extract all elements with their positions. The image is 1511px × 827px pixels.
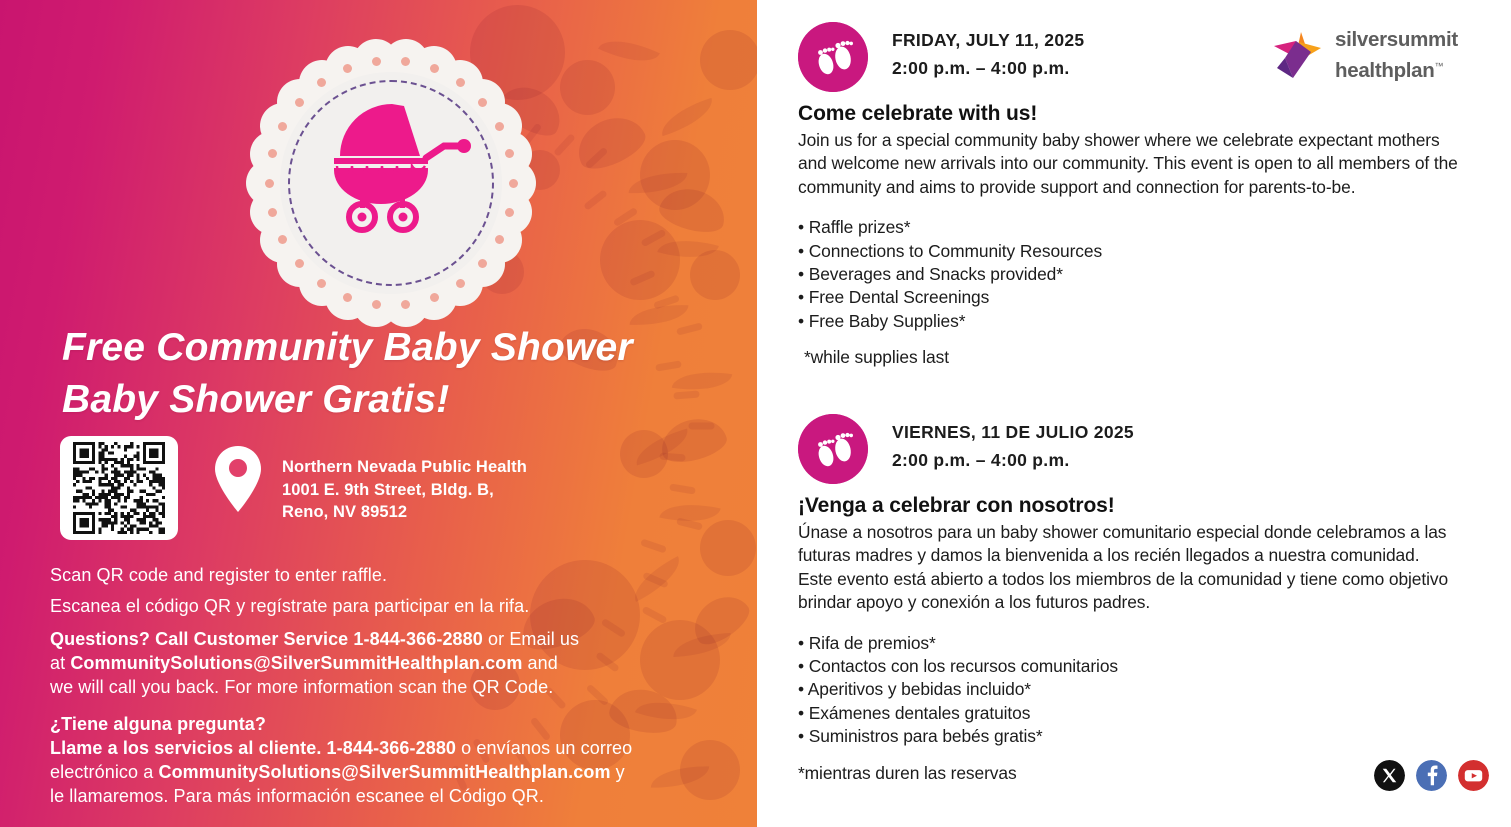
contact-en-email[interactable]: CommunitySolutions@SilverSummitHealthpla… — [70, 653, 522, 673]
event-es-datetime: VIERNES, 11 DE JULIO 2025 2:00 p.m. – 4:… — [892, 418, 1134, 474]
address-line-2: 1001 E. 9th Street, Bldg. B, — [282, 479, 702, 502]
title-line-spanish: Baby Shower Gratis! — [62, 374, 742, 426]
contact-es-line-2: Llame a los servicios al cliente. 1-844-… — [50, 736, 750, 760]
decorative-leaf — [656, 98, 718, 136]
baby-pram-medallion — [246, 38, 536, 328]
contact-info-spanish: ¿Tiene alguna pregunta? Llame a los serv… — [50, 712, 750, 808]
contact-en-line-2: at CommunitySolutions@SilverSummitHealth… — [50, 651, 750, 675]
address-line-1: Northern Nevada Public Health — [282, 456, 702, 479]
event-en-time: 2:00 p.m. – 4:00 p.m. — [892, 54, 1084, 82]
scan-note-spanish: Escanea el código QR y regístrate para p… — [50, 591, 740, 622]
contact-en-and: and — [522, 653, 557, 673]
event-details-spanish: VIERNES, 11 DE JULIO 2025 2:00 p.m. – 4:… — [798, 414, 1458, 784]
scan-instructions: Scan QR code and register to enter raffl… — [50, 560, 740, 622]
event-es-header: VIERNES, 11 DE JULIO 2025 2:00 p.m. – 4:… — [798, 414, 1458, 484]
decorative-dash — [585, 146, 609, 169]
baby-shower-flyer: Free Community Baby Shower Baby Shower G… — [0, 0, 1511, 827]
title-line-english: Free Community Baby Shower — [62, 322, 742, 374]
contact-en-line-3: we will call you back. For more informat… — [50, 675, 750, 699]
contact-info-english: Questions? Call Customer Service 1-844-3… — [50, 627, 750, 699]
event-es-bullets: • Rifa de premios* • Contactos con los r… — [798, 632, 1458, 749]
location-pin-icon — [213, 444, 263, 514]
decorative-dash — [640, 228, 666, 247]
contact-es-line-3: electrónico a CommunitySolutions@SilverS… — [50, 760, 750, 784]
decorative-shape — [569, 107, 651, 176]
contact-en-phone: Questions? Call Customer Service 1-844-3… — [50, 629, 483, 649]
event-es-heading: ¡Venga a celebrar con nosotros! — [798, 492, 1458, 520]
decorative-leaf — [629, 171, 688, 195]
event-en-body: Join us for a special community baby sho… — [798, 129, 1458, 199]
decorative-dash — [640, 539, 667, 554]
contact-es-phone: Llame a los servicios al cliente. 1-844-… — [50, 738, 456, 758]
event-en-bullets: • Raffle prizes* • Connections to Commun… — [798, 216, 1458, 333]
event-es-date: VIERNES, 11 DE JULIO 2025 — [892, 418, 1134, 446]
left-panel: Free Community Baby Shower Baby Shower G… — [0, 0, 757, 827]
decorative-dash — [653, 295, 680, 310]
decorative-shape — [690, 250, 740, 300]
event-en-heading: Come celebrate with us! — [798, 100, 1458, 128]
decorative-dash — [553, 133, 576, 157]
scan-note-english: Scan QR code and register to enter raffl… — [50, 560, 740, 591]
qr-code-container[interactable] — [60, 436, 178, 540]
baby-footprints-icon — [798, 22, 868, 92]
contact-es-or: o envíanos un correo — [456, 738, 632, 758]
list-item: • Raffle prizes* — [798, 216, 1458, 239]
list-item: • Exámenes dentales gratuitos — [798, 702, 1458, 725]
list-item: • Rifa de premios* — [798, 632, 1458, 655]
decorative-shape — [656, 182, 730, 238]
venue-address: Northern Nevada Public Health 1001 E. 9t… — [282, 456, 702, 524]
list-item: • Free Dental Screenings — [798, 286, 1458, 309]
x-twitter-icon[interactable] — [1374, 760, 1405, 791]
list-item: • Connections to Community Resources — [798, 240, 1458, 263]
page-title: Free Community Baby Shower Baby Shower G… — [62, 322, 742, 426]
event-es-body: Únase a nosotros para un baby shower com… — [798, 521, 1458, 615]
contact-en-line-1: Questions? Call Customer Service 1-844-3… — [50, 627, 750, 651]
list-item: • Beverages and Snacks provided* — [798, 263, 1458, 286]
list-item: • Suministros para bebés gratis* — [798, 725, 1458, 748]
baby-pram-icon — [304, 90, 484, 240]
baby-footprints-icon — [798, 414, 868, 484]
decorative-shape — [560, 60, 615, 115]
youtube-icon[interactable] — [1458, 760, 1489, 791]
decorative-leaf — [598, 29, 660, 74]
list-item: • Free Baby Supplies* — [798, 310, 1458, 333]
event-en-date: FRIDAY, JULY 11, 2025 — [892, 26, 1084, 54]
contact-es-email[interactable]: CommunitySolutions@SilverSummitHealthpla… — [158, 762, 610, 782]
contact-en-at: at — [50, 653, 70, 673]
contact-es-line-4: le llamaremos. Para más información esca… — [50, 784, 750, 808]
event-en-note: *while supplies last — [798, 347, 1458, 368]
decorative-dash — [629, 270, 656, 287]
right-panel: silversummit healthplan™ — [757, 0, 1511, 827]
decorative-leaf — [657, 231, 719, 267]
event-es-time: 2:00 p.m. – 4:00 p.m. — [892, 446, 1134, 474]
decorative-dash — [583, 189, 608, 210]
contact-es-y: y — [611, 762, 625, 782]
contact-en-email-lead: or Email us — [483, 629, 579, 649]
decorative-dash — [612, 207, 638, 227]
decorative-shape — [640, 140, 710, 210]
decorative-shape — [700, 30, 757, 90]
contact-es-email-lead: electrónico a — [50, 762, 158, 782]
event-en-datetime: FRIDAY, JULY 11, 2025 2:00 p.m. – 4:00 p… — [892, 26, 1084, 82]
event-es-note: *mientras duren las reservas — [798, 763, 1458, 784]
social-links — [1374, 760, 1489, 791]
facebook-icon[interactable] — [1416, 760, 1447, 791]
list-item: • Aperitivos y bebidas incluido* — [798, 678, 1458, 701]
list-item: • Contactos con los recursos comunitario… — [798, 655, 1458, 678]
address-line-3: Reno, NV 89512 — [282, 501, 702, 524]
contact-es-question: ¿Tiene alguna pregunta? — [50, 712, 750, 736]
decorative-shape — [600, 220, 680, 300]
event-en-header: FRIDAY, JULY 11, 2025 2:00 p.m. – 4:00 p… — [798, 22, 1458, 92]
qr-code[interactable] — [73, 442, 165, 534]
event-details-english: FRIDAY, JULY 11, 2025 2:00 p.m. – 4:00 p… — [798, 22, 1458, 368]
